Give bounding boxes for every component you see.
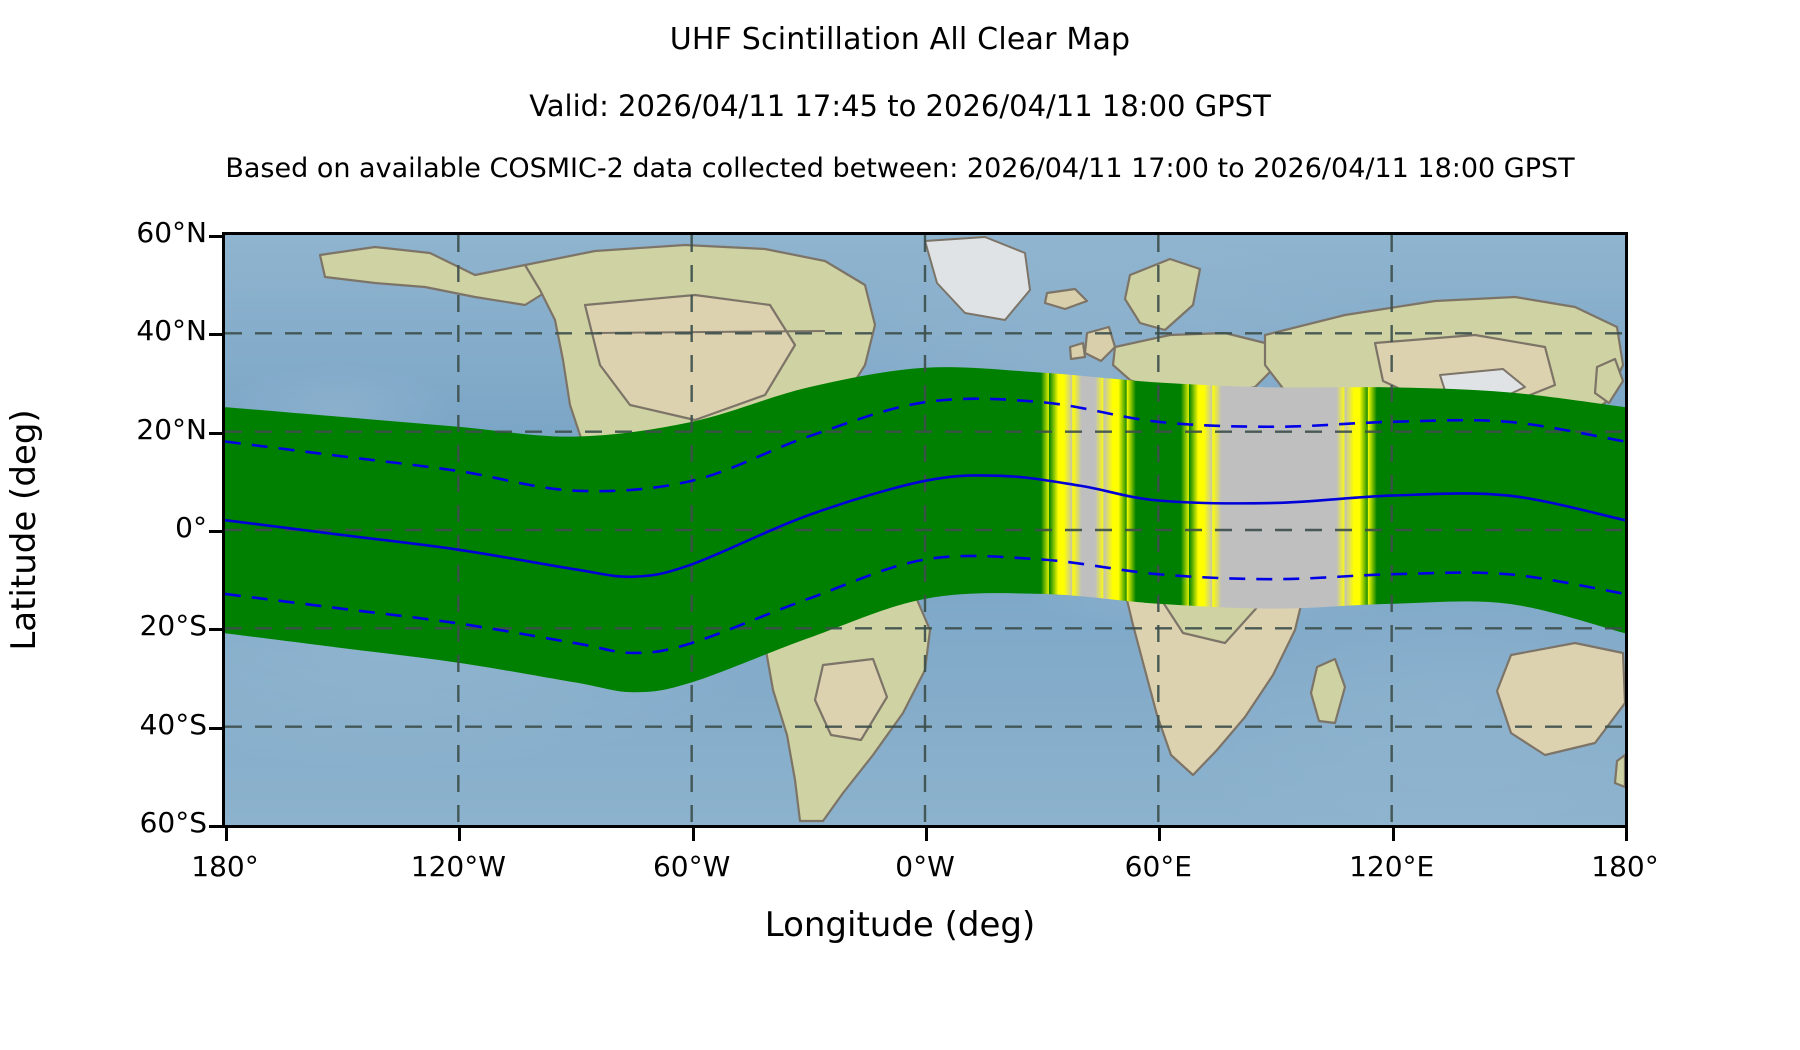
x-tick-label: 60°W xyxy=(592,850,792,883)
y-axis-label: Latitude (deg) xyxy=(4,409,44,650)
x-tick-mark xyxy=(458,828,461,841)
x-tick-label: 60°E xyxy=(1058,850,1258,883)
y-tick-label: 20°S xyxy=(47,609,207,642)
y-tick-label: 40°N xyxy=(47,314,207,347)
y-tick-label: 0° xyxy=(47,511,207,544)
x-tick-mark xyxy=(1392,828,1395,841)
graticule-layer xyxy=(225,235,1625,825)
x-tick-mark xyxy=(1625,828,1628,841)
x-axis-label: Longitude (deg) xyxy=(0,905,1800,945)
y-tick-label: 40°S xyxy=(47,708,207,741)
x-tick-mark xyxy=(1158,828,1161,841)
y-tick-mark xyxy=(209,727,222,730)
x-tick-label: 0°W xyxy=(825,850,1025,883)
y-tick-label: 20°N xyxy=(47,413,207,446)
data-basis-text: Based on available COSMIC-2 data collect… xyxy=(0,153,1800,184)
y-tick-mark xyxy=(209,825,222,828)
x-tick-label: 120°E xyxy=(1292,850,1492,883)
y-tick-mark xyxy=(209,628,222,631)
x-tick-mark xyxy=(225,828,228,841)
y-tick-label: 60°N xyxy=(47,216,207,249)
x-tick-label: 120°W xyxy=(358,850,558,883)
valid-period-text: Valid: 2026/04/11 17:45 to 2026/04/11 18… xyxy=(0,89,1800,123)
x-tick-label: 180° xyxy=(125,850,325,883)
y-tick-mark xyxy=(209,530,222,533)
x-tick-label: 180° xyxy=(1525,850,1725,883)
y-tick-mark xyxy=(209,235,222,238)
x-tick-mark xyxy=(692,828,695,841)
title-block: UHF Scintillation All Clear Map Valid: 2… xyxy=(0,0,1800,184)
y-tick-label: 60°S xyxy=(47,806,207,839)
map-plot-area[interactable]: Probably Clear > 95% Probability Clear P… xyxy=(222,232,1628,828)
basemap-layer xyxy=(225,235,1625,825)
y-tick-mark xyxy=(209,333,222,336)
y-tick-mark xyxy=(209,432,222,435)
page-title: UHF Scintillation All Clear Map xyxy=(0,22,1800,57)
x-tick-mark xyxy=(925,828,928,841)
